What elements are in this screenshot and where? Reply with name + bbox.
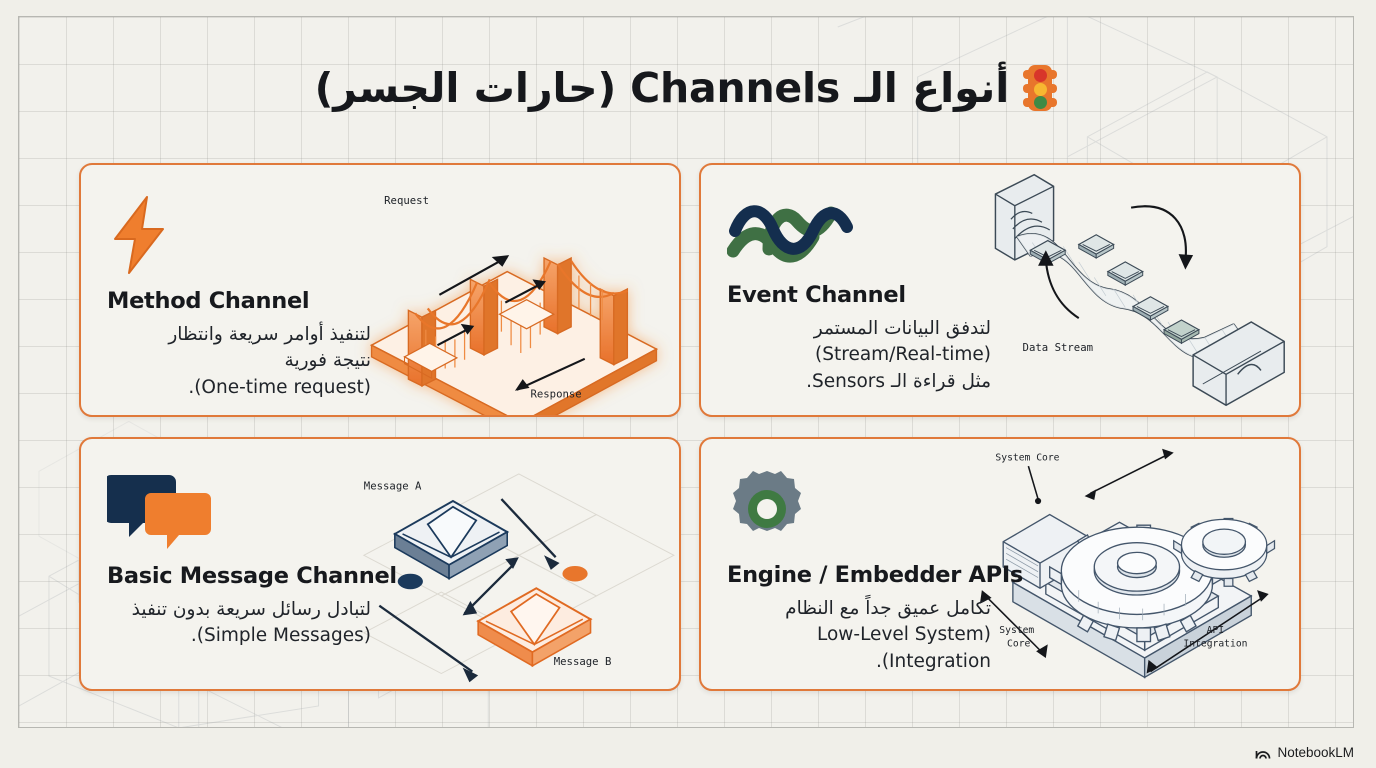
card-title: Basic Message Channel (107, 563, 371, 589)
card-description: لتدفق البيانات المستمر (Stream/Real-time… (727, 316, 991, 395)
card-method-channel-text: Method Channel لتنفيذ أوامر سريعة وانتظا… (81, 165, 381, 415)
desc-line-3: مثل قراءة الـ Sensors. (727, 369, 991, 395)
card-title: Engine / Embedder APIs (727, 562, 991, 588)
lightning-bolt-icon (107, 195, 371, 280)
speech-bubbles-icon (107, 469, 371, 555)
card-description: تكامل عميق جداً مع النظام (Low-Level Sys… (727, 596, 991, 675)
card-method-channel[interactable]: Request Response Method Channel لتنفيذ أ… (79, 163, 681, 417)
card-description: لتبادل رسائل سريعة بدون تنفيذ (Simple Me… (107, 597, 371, 650)
desc-line-1: لتنفيذ أوامر سريعة وانتظار (107, 322, 371, 348)
desc-line-1: لتدفق البيانات المستمر (727, 316, 991, 342)
desc-line-2: (Simple Messages). (107, 623, 371, 649)
system-core-bottom-label-1: System (999, 625, 1034, 636)
card-basic-message-channel-text: Basic Message Channel لتبادل رسائل سريعة… (81, 439, 381, 689)
api-integration-label-1: API (1207, 625, 1224, 636)
isometric-envelopes-illustration: Message A Message B (349, 439, 679, 689)
isometric-data-stream-illustration: Data Stream (969, 165, 1299, 415)
poster-frame: أنواع الـ Channels (حارات الجسر) (18, 16, 1354, 728)
system-core-bottom-label-2: Core (1007, 638, 1030, 649)
data-stream-label: Data Stream (1023, 341, 1093, 354)
card-description: لتنفيذ أوامر سريعة وانتظار نتيجة فورية (… (107, 322, 371, 401)
card-basic-message-channel[interactable]: Message A Message B Basic Message Channe… (79, 437, 681, 691)
desc-line-2: (Stream/Real-time) (727, 342, 991, 368)
card-engine-embedder-apis[interactable]: System Core System Core API Integration (699, 437, 1301, 691)
card-event-channel-text: Event Channel لتدفق البيانات المستمر (St… (701, 165, 1001, 415)
poster-canvas: أنواع الـ Channels (حارات الجسر) (0, 0, 1376, 768)
notebooklm-label: NotebookLM (1277, 745, 1354, 760)
notebooklm-watermark: NotebookLM (1255, 745, 1354, 760)
desc-line-2: نتيجة فورية (107, 348, 371, 374)
card-title: Event Channel (727, 282, 991, 308)
message-b-label: Message B (554, 655, 612, 668)
navy-dot (398, 574, 423, 590)
desc-line-3: (One-time request). (107, 375, 371, 401)
page-title: أنواع الـ Channels (حارات الجسر) (315, 64, 1010, 112)
traffic-light-icon (1023, 63, 1057, 113)
card-engine-embedder-apis-text: Engine / Embedder APIs تكامل عميق جداً م… (701, 439, 1001, 689)
system-core-top-label: System Core (995, 452, 1059, 463)
notebooklm-logo-icon (1255, 746, 1271, 760)
page-title-row: أنواع الـ Channels (حارات الجسر) (19, 63, 1353, 113)
isometric-bridge-illustration: Request Response (349, 165, 679, 415)
desc-line-1: لتبادل رسائل سريعة بدون تنفيذ (107, 597, 371, 623)
cards-grid: Request Response Method Channel لتنفيذ أ… (79, 163, 1301, 691)
desc-line-2: (Low-Level System Integration). (727, 622, 991, 675)
bridge-request-label: Request (384, 194, 429, 207)
card-title: Method Channel (107, 288, 371, 314)
api-integration-label-2: Integration (1183, 638, 1247, 649)
bridge-response-label: Response (530, 388, 581, 401)
card-event-channel[interactable]: Data Stream Event Channel لتدفق البيانات… (699, 163, 1301, 417)
desc-line-1: تكامل عميق جداً مع النظام (727, 596, 991, 622)
wave-signal-icon (727, 195, 991, 274)
gear-icon (727, 469, 991, 554)
orange-dot (562, 566, 587, 582)
